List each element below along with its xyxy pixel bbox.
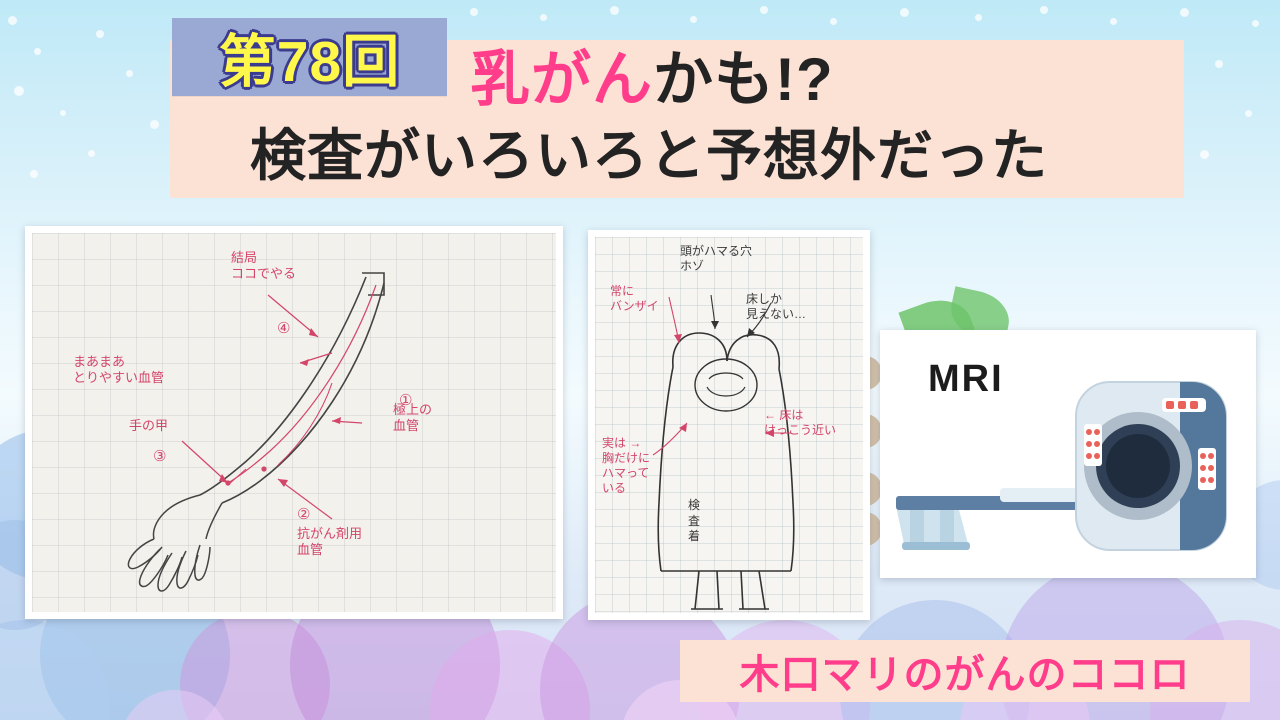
gown-note-6: 検 査 着 [688, 498, 700, 545]
page-title-line2: 検査がいろいろと予想外だった [250, 128, 1048, 184]
title-rest: かも!? [653, 46, 834, 113]
vein-marker-2: ② [297, 506, 310, 525]
mri-gown-sketch-card: 頭がハマる穴 ホゾ 常に バンザイ 床しか 見えない… ← 床は けっこう近い … [588, 230, 870, 620]
title-highlight: 乳がん [470, 46, 653, 113]
episode-badge-label: 第78回 [219, 16, 400, 98]
vein-marker-1: ① [399, 392, 412, 411]
sketch-note-5: 抗がん剤用 血管 [297, 526, 362, 559]
gown-note-5: 実は → 胸だけに ハマって いる [602, 436, 650, 496]
sketch-note-3: 手の甲 [129, 418, 168, 434]
page-title-line1: 乳がんかも!? [470, 50, 834, 110]
mri-label: MRI [928, 358, 1004, 401]
series-title-plate: 木口マリのがんのココロ [680, 640, 1250, 702]
vein-marker-3: ③ [153, 448, 166, 467]
gown-note-3: 床しか 見えない… [746, 292, 806, 322]
vein-marker-4: ④ [277, 320, 290, 339]
gown-note-2: 常に バンザイ [610, 284, 659, 314]
episode-badge: 第78回 [172, 18, 447, 96]
series-title-label: 木口マリのがんのココロ [740, 642, 1191, 700]
gown-note-4: ← 床は けっこう近い [764, 408, 836, 438]
gown-note-1: 頭がハマる穴 ホゾ [680, 244, 752, 274]
sketch-note-2: まあまあ とりやすい血管 [73, 354, 164, 387]
sketch-note-1: 結局 ココでやる [231, 250, 296, 283]
arm-veins-sketch-card: 結局 ココでやる まあまあ とりやすい血管 手の甲 極上の 血管 抗がん剤用 血… [25, 226, 563, 619]
arm-drawing [32, 233, 556, 612]
mri-illustration-card: MRI [880, 330, 1256, 578]
